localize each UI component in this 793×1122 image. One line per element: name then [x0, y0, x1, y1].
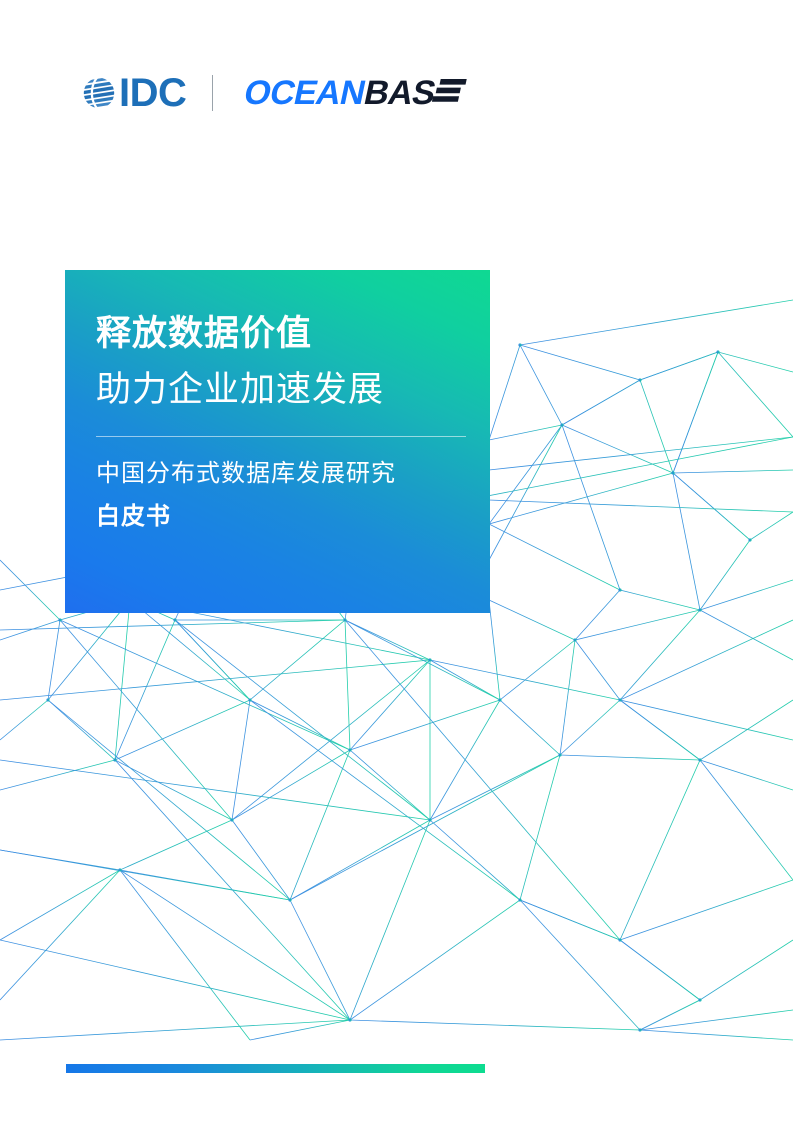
title-card: 释放数据价值 助力企业加速发展 中国分布式数据库发展研究 白皮书 — [65, 270, 490, 613]
idc-logo: IDC — [80, 73, 186, 113]
bottom-accent-bar — [66, 1064, 485, 1073]
logo-row: IDC OCEAN BAS — [80, 70, 503, 116]
subtitle-line-2: 白皮书 — [96, 501, 466, 533]
title-divider — [96, 436, 466, 437]
idc-logo-text: IDC — [119, 73, 186, 113]
globe-striped-icon — [80, 74, 118, 112]
title-line-1: 释放数据价值 — [96, 312, 466, 356]
logo-divider — [212, 75, 213, 111]
subtitle-line-1: 中国分布式数据库发展研究 — [96, 458, 466, 490]
svg-text:OCEAN: OCEAN — [241, 74, 369, 112]
svg-text:BAS: BAS — [361, 74, 439, 112]
oceanbase-logo: OCEAN BAS — [235, 74, 503, 112]
title-card-content: 释放数据价值 助力企业加速发展 中国分布式数据库发展研究 白皮书 — [96, 312, 466, 533]
oceanbase-wordmark-icon: OCEAN BAS — [235, 73, 503, 113]
title-line-2: 助力企业加速发展 — [96, 367, 466, 413]
